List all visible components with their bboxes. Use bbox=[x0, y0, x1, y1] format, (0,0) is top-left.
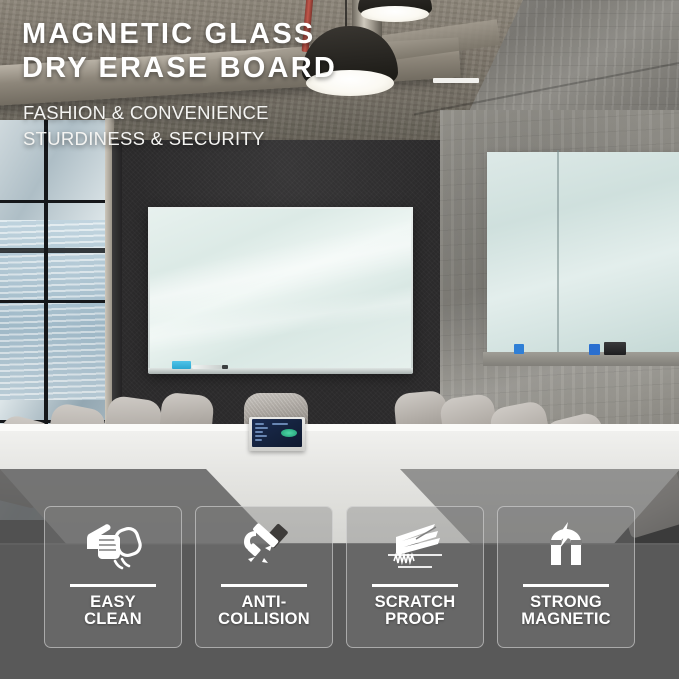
partition-mullion bbox=[0, 200, 110, 203]
feature-card-label: STRONG MAGNETIC bbox=[521, 594, 611, 630]
subhead-line-1: FASHION & CONVENIENCE bbox=[23, 100, 543, 126]
card-divider bbox=[70, 584, 156, 587]
pendant-light-back bbox=[358, 0, 432, 20]
feature-card-label: EASY CLEAN bbox=[84, 594, 142, 630]
headline-line-1: MAGNETIC GLASS bbox=[22, 18, 582, 52]
marker-cap bbox=[222, 365, 228, 369]
hand-wiping-icon bbox=[45, 516, 181, 578]
blade-scratch-icon bbox=[347, 516, 483, 578]
partition-rail bbox=[0, 248, 108, 253]
glass-board-ledge bbox=[483, 352, 679, 366]
felt-wall-edge bbox=[112, 140, 122, 440]
horseshoe-magnet-icon bbox=[498, 516, 634, 578]
feature-card-easy-clean[interactable]: EASY CLEAN bbox=[44, 506, 182, 648]
feature-card-strong-magnetic[interactable]: STRONG MAGNETIC bbox=[497, 506, 635, 648]
card-divider bbox=[523, 584, 609, 587]
feature-card-list: EASY CLEAN ANTI- COLLISION bbox=[0, 506, 679, 652]
wall-glass-board bbox=[487, 152, 679, 357]
eraser bbox=[172, 361, 191, 369]
feature-card-anti-collision[interactable]: ANTI- COLLISION bbox=[195, 506, 333, 648]
window-view bbox=[0, 220, 110, 400]
card-divider bbox=[221, 584, 307, 587]
tablet-chart-blob bbox=[281, 429, 297, 437]
hammer-impact-icon bbox=[196, 516, 332, 578]
partition-mullion bbox=[0, 300, 110, 303]
whiteboard-reflection bbox=[150, 209, 411, 368]
product-banner: EASY CLEAN ANTI- COLLISION bbox=[0, 0, 679, 679]
marker bbox=[192, 365, 222, 369]
feature-card-scratch-proof[interactable]: SCRATCH PROOF bbox=[346, 506, 484, 648]
feature-card-label: SCRATCH PROOF bbox=[375, 594, 456, 630]
tablet-screen bbox=[252, 419, 302, 447]
headline-line-2: DRY ERASE BOARD bbox=[22, 52, 582, 86]
table-edge bbox=[0, 424, 679, 431]
marker-tray-accessory bbox=[604, 342, 626, 355]
blue-accessory bbox=[589, 344, 600, 355]
card-divider bbox=[372, 584, 458, 587]
subhead-line-2: STURDINESS & SECURITY bbox=[23, 126, 543, 152]
blue-accessory bbox=[514, 344, 524, 354]
feature-card-label: ANTI- COLLISION bbox=[218, 594, 310, 630]
glass-board-seam bbox=[557, 150, 559, 360]
page-title: MAGNETIC GLASS DRY ERASE BOARD bbox=[22, 18, 582, 86]
page-subtitle: FASHION & CONVENIENCE STURDINESS & SECUR… bbox=[23, 100, 543, 151]
